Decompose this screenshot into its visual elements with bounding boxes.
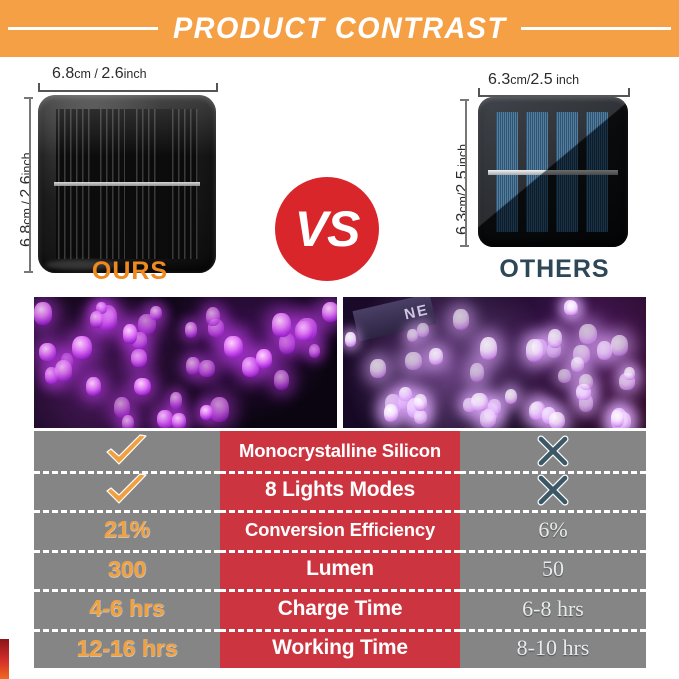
others-height-dimension-line <box>465 99 467 247</box>
led-bulb <box>624 367 636 380</box>
ours-width-dimension-label: 6.8cm / 2.6inch <box>52 65 147 83</box>
led-bulb <box>407 329 418 343</box>
led-bulb <box>414 394 427 412</box>
vs-badge: VS <box>275 177 379 281</box>
feature-name-cell: 8 Lights Modes <box>220 471 460 511</box>
others-value-cell: 50 <box>460 550 646 590</box>
led-bulb <box>172 413 186 428</box>
row-separator <box>220 550 460 553</box>
led-bulb <box>295 321 313 341</box>
led-bulb <box>471 393 487 412</box>
feature-name-cell: Charge Time <box>220 589 460 629</box>
ours-height-tick-top <box>24 97 33 99</box>
ours-height-dimension-label: 6.8cm / 2.6inch <box>18 152 36 247</box>
row-separator <box>220 471 460 474</box>
ours-value-cell: 4-6 hrs <box>34 589 220 629</box>
led-bulb <box>611 335 628 356</box>
ours-width-tick-left <box>38 83 40 92</box>
led-bulb <box>505 389 518 404</box>
others-width-tick-right <box>628 88 630 97</box>
row-separator <box>220 629 460 632</box>
led-bulb <box>597 341 612 360</box>
ours-value-cell <box>34 431 220 471</box>
led-bulb <box>170 392 182 409</box>
ours-height-dimension-line <box>29 97 31 273</box>
led-bulb <box>611 410 625 427</box>
feature-name-cell: Conversion Efficiency <box>220 510 460 550</box>
others-height-tick-top <box>460 99 469 101</box>
feature-name-cell: Lumen <box>220 550 460 590</box>
table-row: 8 Lights Modes <box>34 471 646 511</box>
led-bulb <box>480 337 497 360</box>
led-bulb <box>90 311 104 328</box>
led-bulb <box>199 360 215 377</box>
table-row: 21%Conversion Efficiency6% <box>34 510 646 550</box>
led-bulb <box>548 329 562 348</box>
others-panel: 6.3cm/2.5 inch 6.3cm/2.5 inch OTHERS <box>430 57 679 295</box>
led-bulb <box>256 349 272 369</box>
check-icon <box>104 473 150 507</box>
others-value-cell <box>460 471 646 511</box>
led-photo-row: NE <box>34 297 646 428</box>
led-bulb <box>567 301 578 315</box>
header-rule-left <box>8 27 158 30</box>
led-bulb <box>414 410 427 424</box>
ours-value-cell: 300 <box>34 550 220 590</box>
led-bulb <box>131 349 147 367</box>
others-brand-label: OTHERS <box>430 255 679 284</box>
product-comparison-panels: 6.8cm / 2.6inch 6.8cm / 2.6inch OURS VS … <box>0 57 679 295</box>
feature-name-cell: Working Time <box>220 629 460 669</box>
vs-label: VS <box>295 204 360 254</box>
header-rule-right <box>521 27 671 30</box>
led-bulb <box>549 412 565 428</box>
ours-width-dimension-line <box>38 90 218 92</box>
others-busbar <box>488 170 618 175</box>
ours-value-cell: 21% <box>34 510 220 550</box>
led-bulb <box>34 302 51 324</box>
led-bulb <box>384 404 398 422</box>
led-bulb <box>370 359 386 378</box>
table-row: 4-6 hrsCharge Time6-8 hrs <box>34 589 646 629</box>
cross-icon <box>530 434 576 468</box>
led-bulb <box>405 352 421 370</box>
led-bulb <box>123 324 137 343</box>
ours-value-cell <box>34 471 220 511</box>
table-row: Monocrystalline Silicon <box>34 431 646 471</box>
led-bulb <box>206 307 221 326</box>
others-width-tick-left <box>478 88 480 97</box>
table-row: 300Lumen50 <box>34 550 646 590</box>
others-value-cell: 6% <box>460 510 646 550</box>
comparison-table: Monocrystalline Silicon8 Lights Modes21%… <box>34 431 646 668</box>
others-height-dimension-label: 6.3cm/2.5 inch <box>454 144 472 235</box>
led-bulb <box>150 306 162 321</box>
led-bulb <box>200 405 213 420</box>
led-bulb <box>579 374 593 391</box>
others-value-cell: 8-10 hrs <box>460 629 646 669</box>
ours-solar-panel-image <box>38 95 216 273</box>
led-bulb <box>480 409 496 427</box>
page-title: PRODUCT CONTRAST <box>165 12 514 46</box>
row-separator <box>220 510 460 513</box>
others-led-photo: NE <box>343 297 646 428</box>
led-bulb <box>345 332 356 347</box>
led-bulb <box>579 324 597 345</box>
led-bulb <box>322 302 337 323</box>
led-bulb <box>309 344 321 358</box>
others-width-dimension-label: 6.3cm/2.5 inch <box>488 71 579 89</box>
ours-busbar <box>54 182 200 186</box>
led-bulb <box>558 369 571 384</box>
others-value-cell: 6-8 hrs <box>460 589 646 629</box>
led-bulb <box>157 410 173 428</box>
led-bulb <box>274 370 289 390</box>
ours-brand-label: OURS <box>0 257 260 286</box>
others-solar-panel-image <box>478 97 628 247</box>
led-bulb <box>571 357 585 372</box>
led-bulb <box>470 363 484 382</box>
led-bulb <box>86 377 101 396</box>
others-height-tick-bottom <box>460 245 469 247</box>
led-bulb <box>122 415 134 428</box>
cross-icon <box>530 473 576 507</box>
led-bulb <box>72 336 92 360</box>
led-bulb <box>224 336 243 358</box>
ours-width-tick-right <box>216 83 218 92</box>
led-bulb <box>210 397 229 422</box>
ours-value-cell: 12-16 hrs <box>34 629 220 669</box>
led-bulb <box>272 313 290 336</box>
led-bulb <box>185 322 197 338</box>
led-bulb <box>526 339 543 361</box>
table-row: 12-16 hrsWorking Time8-10 hrs <box>34 629 646 669</box>
led-bulb <box>134 378 150 396</box>
row-separator <box>220 589 460 592</box>
led-bulb <box>55 360 72 382</box>
led-bulb <box>186 357 200 375</box>
others-value-cell <box>460 431 646 471</box>
led-bulb <box>417 323 429 337</box>
led-bulb <box>39 343 56 361</box>
corner-artifact <box>0 639 9 679</box>
check-icon <box>104 434 150 468</box>
header-banner: PRODUCT CONTRAST <box>0 0 679 57</box>
ours-led-photo <box>34 297 337 428</box>
ours-panel: 6.8cm / 2.6inch 6.8cm / 2.6inch OURS <box>0 57 260 295</box>
led-bulb <box>453 309 469 330</box>
feature-name-cell: Monocrystalline Silicon <box>220 431 460 471</box>
led-bulb <box>429 348 443 365</box>
